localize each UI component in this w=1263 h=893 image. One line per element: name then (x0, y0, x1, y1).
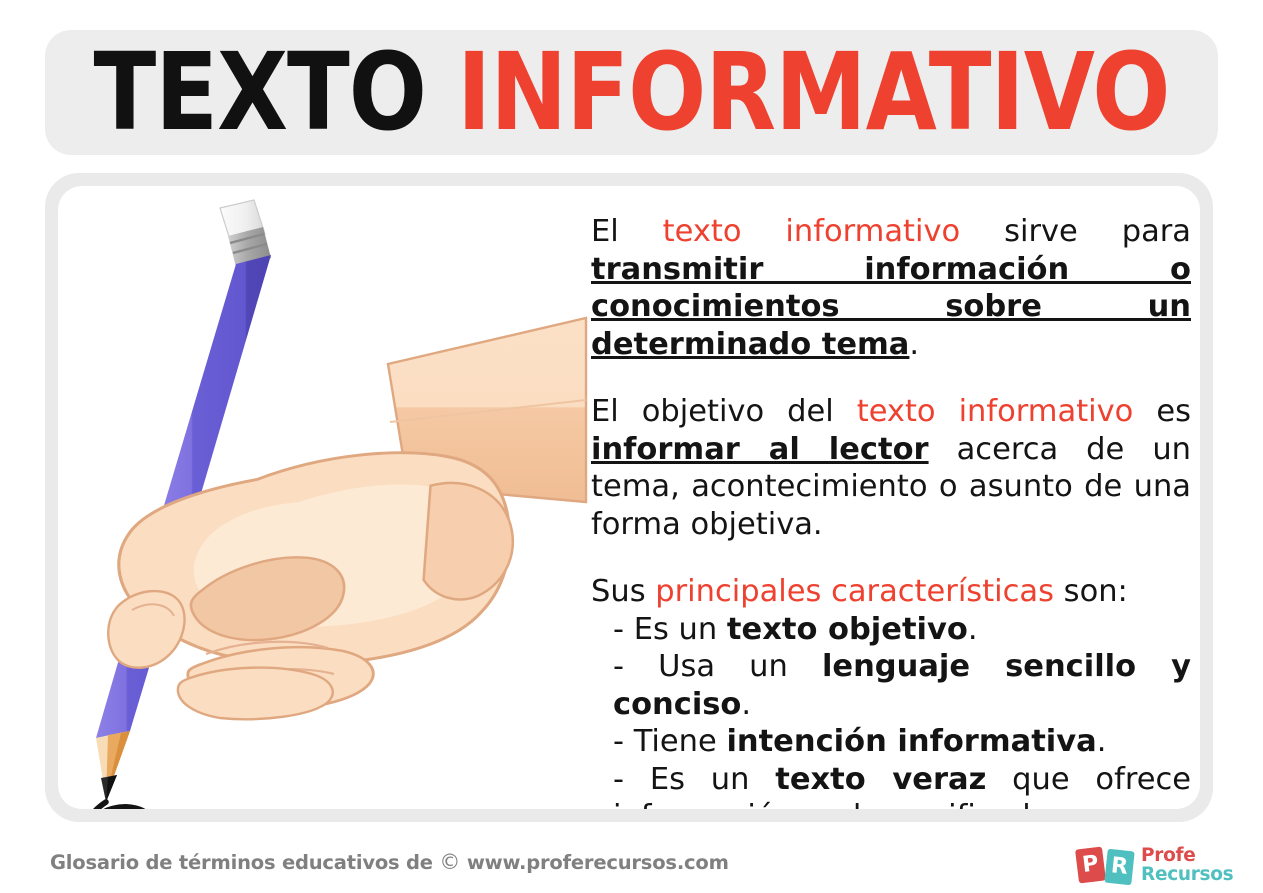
p1-segment-5: . (909, 327, 919, 362)
p3-segment-3: son: (1054, 574, 1128, 609)
bullet-bold: texto objetivo (727, 612, 968, 647)
copyright-icon: © (439, 850, 460, 874)
paragraph-3: Sus principales características son: (591, 573, 1191, 611)
p1-segment-1: El (591, 214, 663, 249)
p2-segment-3: es (1133, 394, 1191, 429)
bullet-suffix: . (741, 687, 751, 722)
bullet-prefix: Usa un (658, 649, 822, 684)
page-title: TEXTO INFORMATIVO (93, 39, 1169, 146)
bullet-bold: intención informativa (726, 724, 1096, 759)
bullet-dash: - (613, 762, 650, 797)
bullet-bold: texto veraz (775, 762, 986, 797)
p3-highlight-red: principales características (655, 574, 1054, 609)
characteristics-list: - Es un texto objetivo. - Usa un lenguaj… (591, 611, 1191, 810)
logo-wordmark: Profe Recursos (1141, 846, 1233, 884)
list-item: - Es un texto veraz que ofrece informaci… (591, 761, 1191, 810)
hand-writing-pencil-illustration (58, 186, 588, 809)
main-content-card: El texto informativo sirve para transmit… (45, 173, 1213, 822)
logo-word-recursos: Recursos (1141, 865, 1233, 884)
footer-website-url[interactable]: www.proferecursos.com (460, 851, 728, 874)
bullet-suffix: . (1097, 724, 1107, 759)
thumb-tip (108, 591, 184, 668)
list-item: - Tiene intención informativa. (591, 723, 1191, 761)
p2-highlight-red: texto informativo (857, 394, 1134, 429)
logo-tile-r: R (1104, 849, 1134, 886)
footer-text-before: Glosario de términos educativos de (50, 851, 439, 874)
bullet-dash: - (613, 649, 658, 684)
main-content-panel: El texto informativo sirve para transmit… (58, 186, 1200, 809)
p1-highlight-red: texto informativo (663, 214, 961, 249)
p1-segment-3: sirve para (960, 214, 1191, 249)
p2-segment-1: El objetivo del (591, 394, 857, 429)
page-title-space (426, 30, 457, 154)
bullet-prefix: Es un (650, 762, 775, 797)
p2-emphasis-underlined: informar al lector (591, 432, 929, 467)
bullet-dash: - (613, 724, 634, 759)
p3-segment-1: Sus (591, 574, 655, 609)
paragraph-1: El texto informativo sirve para transmit… (591, 213, 1191, 363)
list-item: - Usa un lenguaje sencillo y conciso. (591, 648, 1191, 723)
list-item: - Es un texto objetivo. (591, 611, 1191, 649)
bullet-suffix: . (968, 612, 978, 647)
p1-emphasis-underlined: transmitir información o conocimientos s… (591, 252, 1191, 362)
page-title-word-informativo: INFORMATIVO (457, 30, 1170, 154)
header-banner: TEXTO INFORMATIVO (45, 30, 1218, 155)
paragraph-2: El objetivo del texto informativo es inf… (591, 393, 1191, 543)
footer: Glosario de términos educativos de © www… (0, 836, 1263, 893)
bullet-prefix: Es un (634, 612, 727, 647)
footer-credit-line: Glosario de términos educativos de © www… (50, 850, 729, 874)
page-title-word-texto: TEXTO (93, 30, 426, 154)
logo-tile-p: P (1075, 846, 1106, 883)
pencil-scribble (81, 802, 166, 809)
body-text-column: El texto informativo sirve para transmit… (591, 213, 1191, 809)
bullet-dash: - (613, 612, 634, 647)
proferecursos-logo[interactable]: P R Profe Recursos (1075, 844, 1245, 888)
logo-word-profe: Profe (1141, 846, 1233, 865)
bullet-prefix: Tiene (634, 724, 727, 759)
middle-finger (178, 668, 333, 720)
